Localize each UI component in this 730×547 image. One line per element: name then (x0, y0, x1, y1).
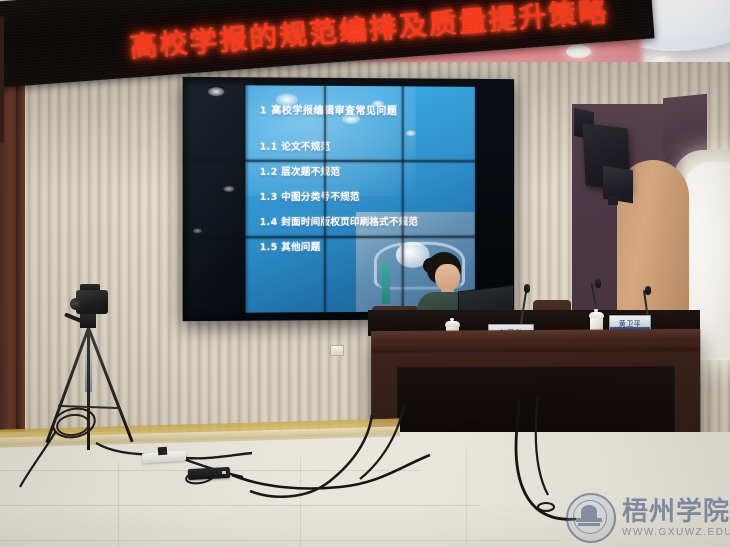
tea-cup-knob (594, 309, 598, 312)
slide-item: 1.4 封面时间版权页印刷格式不规范 (260, 214, 469, 228)
seal-building-dome (581, 505, 597, 518)
slide-item: 1.2 层次题不规范 (260, 164, 469, 178)
seal-building-base (576, 518, 602, 522)
power-strip-led-icon (222, 471, 226, 474)
power-plug-icon (158, 447, 168, 456)
conference-hall-photo: 高校学报的规范编排及质量提升策略 1 高校学报编辑审查常见问题 1.1 论文不规… (0, 0, 730, 547)
slide-item: 1.1 论文不规范 (260, 139, 469, 154)
tea-cup-lid (445, 321, 460, 327)
panel-bezel-vertical (324, 86, 326, 312)
microphone-icon (645, 286, 651, 295)
wall-socket-icon (330, 345, 344, 356)
panel-bezel-vertical (246, 77, 248, 320)
glare-spot (208, 87, 224, 96)
panel-bezel-vertical (402, 86, 404, 311)
downlight-icon (566, 45, 591, 58)
name-placard-text: 黄卫平 (619, 319, 642, 329)
watermark: 梧州学院 WWW.GXUWZ.EDU.CN (566, 492, 730, 544)
panel-bezel-vertical (475, 79, 477, 319)
glare-spot (223, 186, 234, 192)
slide-title: 1 高校学报编辑审查常见问题 (260, 101, 469, 117)
watermark-url: WWW.GXUWZ.EDU.CN (622, 527, 730, 538)
camera-tripod (50, 290, 150, 455)
slide-content: 1 高校学报编辑审查常见问题 1.1 论文不规范 1.2 层次题不规范 1.3 … (260, 101, 469, 264)
glare-spot (193, 228, 202, 233)
watermark-text-block: 梧州学院 WWW.GXUWZ.EDU.CN (622, 499, 730, 538)
microphone-icon (595, 279, 601, 288)
watermark-institution: 梧州学院 (622, 499, 730, 525)
camera-lens-icon (70, 298, 82, 310)
seal-building-base (578, 523, 600, 526)
tripod-head (80, 314, 96, 328)
microphone-icon (524, 284, 530, 293)
slide-item: 1.3 中图分类号不规范 (260, 189, 469, 203)
pa-speaker-bracket (608, 196, 618, 205)
university-seal-icon (566, 493, 616, 543)
podium-left-side (0, 11, 4, 143)
tea-cup-lid (589, 312, 604, 318)
video-wall-reflection (187, 83, 252, 315)
slide-photo-teal-strip (382, 264, 390, 304)
podium-lip (371, 341, 700, 353)
tea-cup-knob (450, 318, 454, 321)
